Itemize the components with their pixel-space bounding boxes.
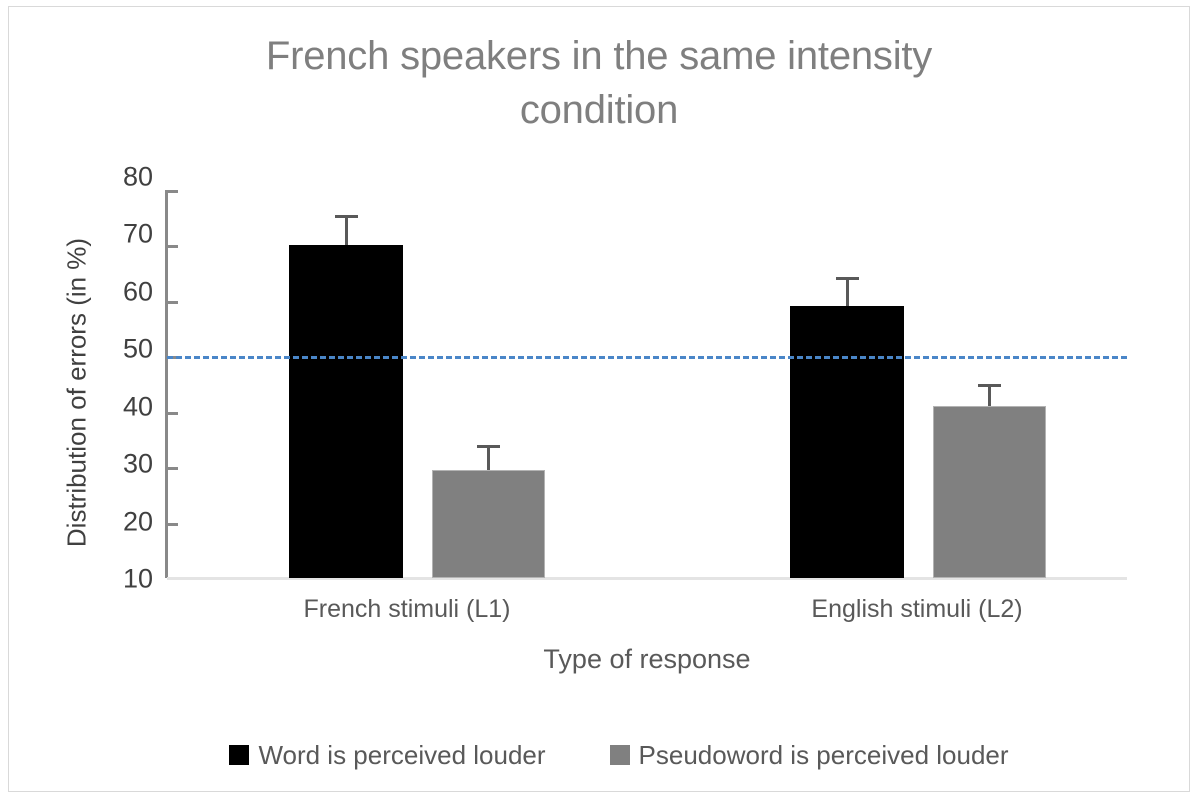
x-tick-label-english-stimuli: English stimuli (L2)	[811, 595, 1022, 624]
x-axis-title: Type of response	[167, 644, 1127, 675]
y-tick-label-80: 80	[123, 164, 153, 191]
y-tick-label-40: 40	[123, 393, 153, 420]
plot-wrapper: Distribution of errors (in %) 80 70 60 5…	[9, 7, 1191, 793]
y-tick-label-30: 30	[123, 451, 153, 478]
error-bar-french-pseudoword-louder	[487, 445, 490, 470]
y-tick-label-10: 10	[123, 566, 153, 593]
legend-label-word-louder: Word is perceived louder	[258, 740, 545, 771]
chart-legend: Word is perceived louder Pseudoword is p…	[179, 735, 1059, 775]
error-cap-english-pseudoword-louder	[978, 384, 1001, 387]
chart-frame: French speakers in the same intensity co…	[8, 6, 1190, 792]
y-tick-label-60: 60	[123, 278, 153, 305]
bar-french-word-louder[interactable]	[289, 245, 403, 578]
x-tick-label-french-stimuli: French stimuli (L1)	[304, 595, 511, 624]
error-cap-french-word-louder	[335, 215, 358, 218]
error-cap-english-word-louder	[836, 277, 859, 280]
bar-french-pseudoword-louder[interactable]	[432, 470, 545, 578]
error-bar-french-word-louder	[345, 215, 348, 245]
error-bar-english-pseudoword-louder	[988, 384, 991, 406]
plot-area	[167, 190, 1127, 578]
black-square-icon	[229, 745, 249, 765]
y-tick-label-50: 50	[123, 336, 153, 363]
bar-english-word-louder[interactable]	[790, 306, 904, 578]
legend-item-word-louder[interactable]: Word is perceived louder	[229, 740, 545, 771]
error-cap-french-pseudoword-louder	[477, 445, 500, 448]
y-tick-label-70: 70	[123, 221, 153, 248]
error-bar-english-word-louder	[846, 277, 849, 306]
x-axis-category-labels: French stimuli (L1) English stimuli (L2)	[167, 595, 1127, 635]
y-axis-tick-labels: 80 70 60 50 40 30 20 10	[91, 177, 153, 579]
y-axis-title: Distribution of errors (in %)	[62, 193, 93, 593]
y-tick-label-20: 20	[123, 508, 153, 535]
bar-english-pseudoword-louder[interactable]	[933, 406, 1046, 578]
legend-label-pseudoword-louder: Pseudoword is perceived louder	[639, 740, 1009, 771]
gray-square-icon	[610, 745, 630, 765]
reference-line-50-percent	[167, 356, 1127, 359]
legend-item-pseudoword-louder[interactable]: Pseudoword is perceived louder	[610, 740, 1009, 771]
